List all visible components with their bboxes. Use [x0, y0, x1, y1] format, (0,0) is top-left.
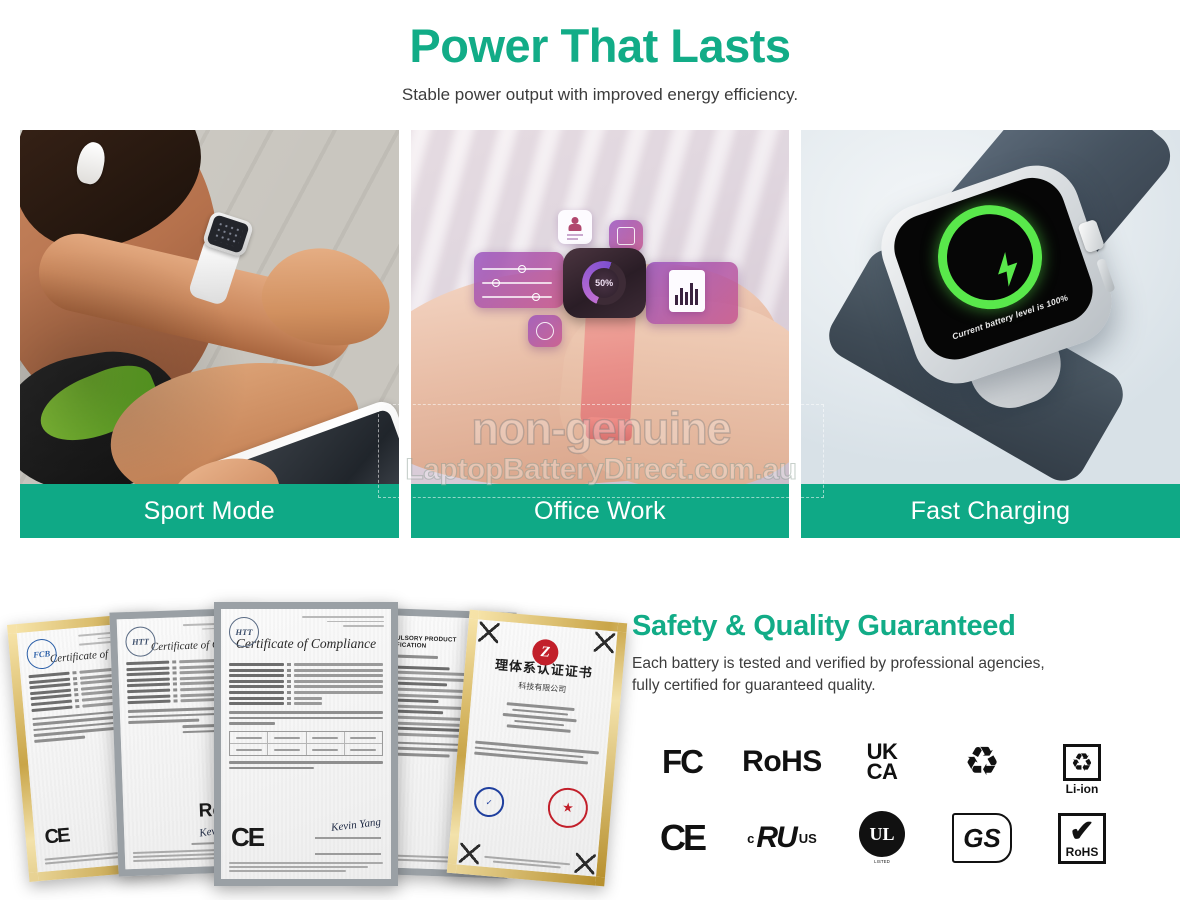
certificate-blue-seal: ✓: [473, 786, 506, 819]
ul-listed-caption: LISTED: [874, 859, 890, 864]
cul-us-badge: c RU US: [732, 804, 832, 872]
safety-text-block: Safety & Quality Guaranteed Each battery…: [632, 610, 1180, 698]
checkmark-icon: ✔: [1069, 820, 1094, 844]
safety-body-line-2: fully certified for guaranteed quality.: [632, 677, 876, 694]
ce-mark: CE: [44, 824, 70, 849]
ce-badge: CE: [632, 804, 732, 872]
safety-title: Safety & Quality Guaranteed: [632, 610, 1180, 643]
rohs-caption: RoHS: [1066, 845, 1099, 859]
li-ion-caption: Li-ion: [1066, 782, 1099, 796]
ui-sliders-card: [474, 252, 564, 308]
gs-badge: GS: [932, 804, 1032, 872]
certification-section: FCB Certificate of C CE e: [0, 560, 1200, 900]
feature-card-fast-charging[interactable]: Current battery level is 100% Fast Charg…: [801, 130, 1180, 538]
li-ion-recycle-badge: ♻ Li-ion: [1032, 728, 1132, 796]
badge-row-2: CE c RU US UL LISTED GS: [632, 804, 1132, 872]
cul-ru: RU: [756, 821, 795, 855]
certificate-red-seal: ★: [546, 786, 589, 829]
rohs-check-badge: ✔ RoHS: [1032, 804, 1132, 872]
sport-mode-photo: [20, 130, 399, 484]
ukca-bottom: CA: [867, 759, 898, 784]
page-header: Power That Lasts Stable power output wit…: [0, 0, 1200, 105]
certificate-logo: HTT: [229, 617, 259, 647]
certificate-table: [229, 731, 383, 756]
ul-listed-badge: UL LISTED: [832, 804, 932, 872]
certification-badge-grid: FC RoHS UK CA ♻ ♻: [632, 728, 1132, 872]
ukca-badge: UK CA: [832, 728, 932, 796]
feature-card-sport-mode[interactable]: Sport Mode: [20, 130, 399, 538]
page-subtitle: Stable power output with improved energy…: [0, 85, 1200, 105]
feature-card-caption: Sport Mode: [20, 484, 399, 538]
certificate-compliance[interactable]: HTT Certificate of Compliance: [214, 602, 398, 886]
certificate-china-system[interactable]: Z 理体系认证证书 科技有限公司 ★ ✓: [447, 610, 627, 887]
chart-card-icon: [669, 270, 705, 312]
feature-card-row: Sport Mode: [20, 130, 1180, 538]
certificate-signature: Kevin Yang: [330, 816, 381, 834]
ui-settings-card: [528, 315, 562, 347]
badge-row-1: FC RoHS UK CA ♻ ♻: [632, 728, 1132, 796]
office-work-photo: 50%: [411, 130, 790, 484]
fcc-badge: FC: [632, 728, 732, 796]
smartwatch-office: 50%: [563, 248, 646, 318]
fast-charging-photo: Current battery level is 100%: [801, 130, 1180, 484]
feature-card-caption: Office Work: [411, 484, 790, 538]
ul-circle: UL: [859, 811, 905, 857]
contact-card-icon: [558, 210, 592, 244]
certificate-gallery: FCB Certificate of C CE e: [18, 600, 618, 890]
ce-mark: CE: [231, 822, 263, 853]
page-title: Power That Lasts: [0, 18, 1200, 73]
feature-card-office-work[interactable]: 50% Office Work: [411, 130, 790, 538]
rohs-text-badge: RoHS: [732, 728, 832, 796]
cul-us: US: [799, 831, 817, 846]
feature-card-caption: Fast Charging: [801, 484, 1180, 538]
recycle-icon: ♻: [1071, 751, 1093, 776]
promo-page: Power That Lasts Stable power output wit…: [0, 0, 1200, 900]
cul-c: c: [747, 831, 754, 846]
safety-body-line-1: Each battery is tested and verified by p…: [632, 655, 1045, 672]
gs-mark: GS: [952, 813, 1012, 863]
recycle-badge: ♻: [932, 728, 1032, 796]
battery-percent-label: 50%: [595, 278, 613, 288]
